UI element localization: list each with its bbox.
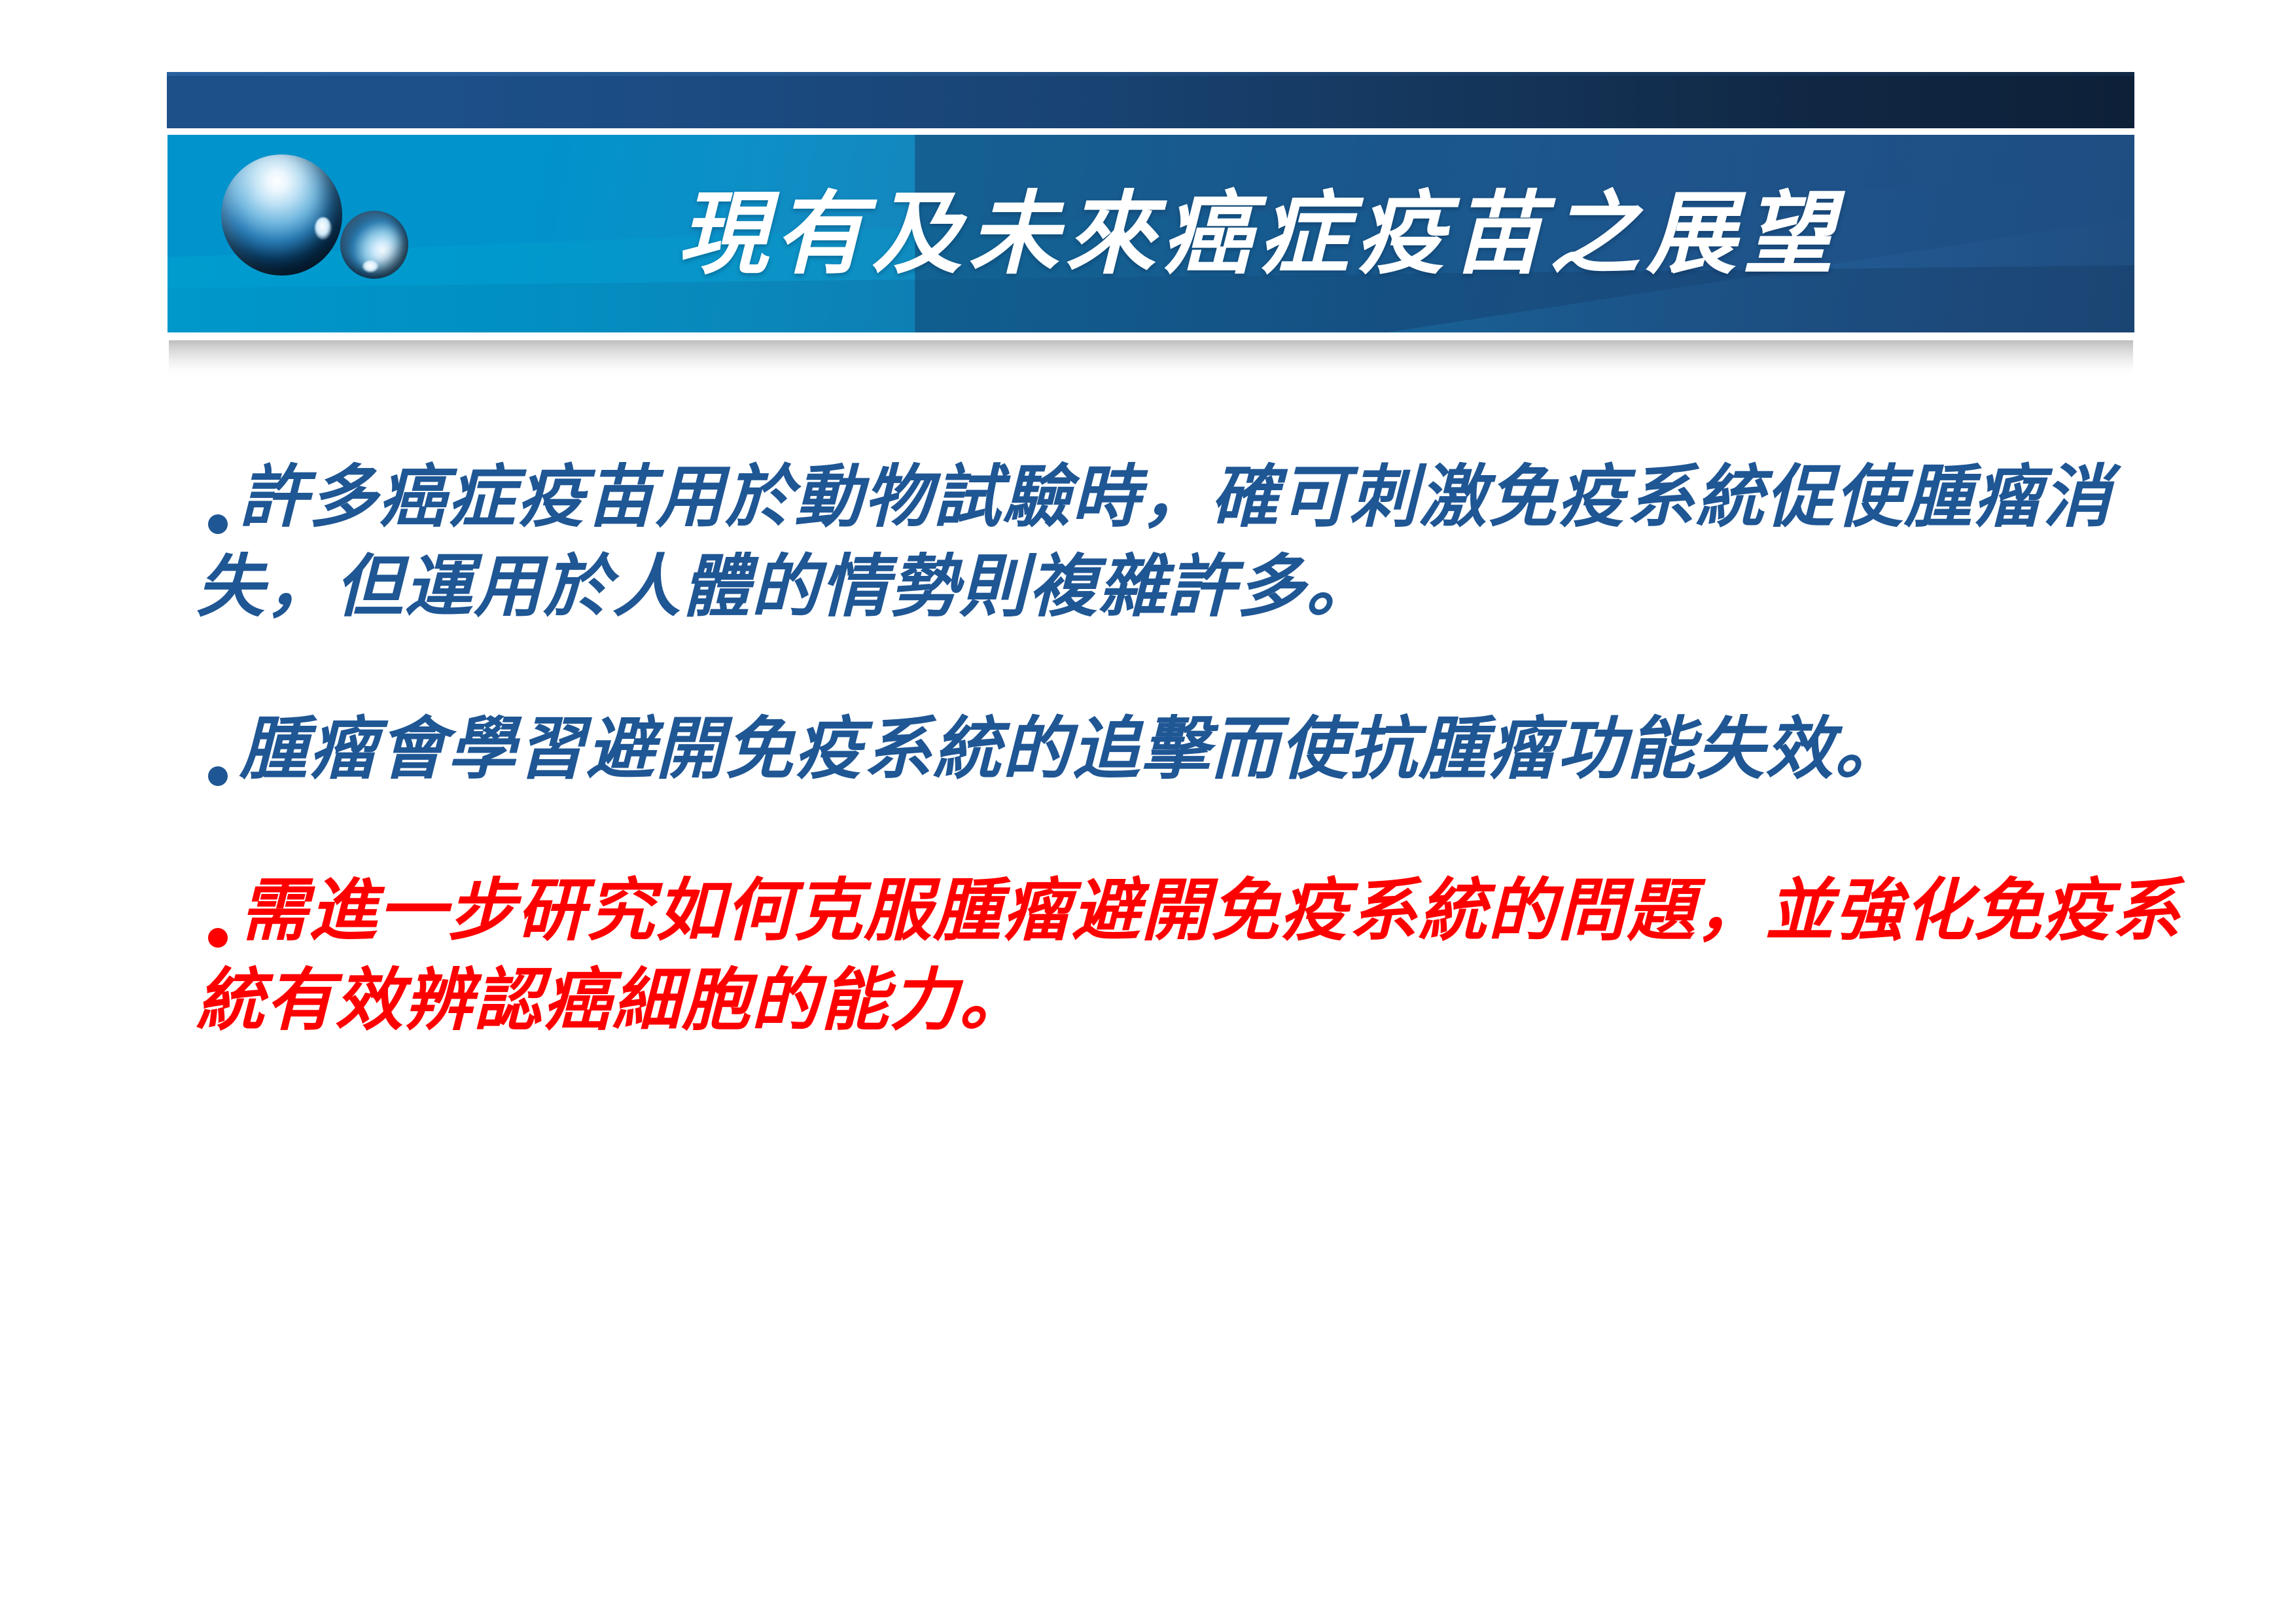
- bullet-item-1: 許多癌症疫苗用於動物試驗時，確可刺激免疫系統促使腫瘤消失，但運用於人體的情勢則複…: [0, 452, 2296, 632]
- page-title: 現有及未來癌症疫苗之展望: [501, 135, 2017, 332]
- bullet-marker-icon: [208, 514, 228, 534]
- bullet-text-1: 許多癌症疫苗用於動物試驗時，確可刺激免疫系統促使腫瘤消失，但運用於人體的情勢則複…: [196, 452, 2198, 632]
- bullet-item-3: 需進一步研究如何克服腫瘤避開免疫系統的問題，並強化免疫系統有效辨認癌細胞的能力。: [0, 865, 2296, 1045]
- bullet-marker-icon: [208, 766, 228, 786]
- bullet-marker-icon: [208, 928, 228, 948]
- metallic-sphere-small-icon: [340, 211, 408, 279]
- slide-body: 許多癌症疫苗用於動物試驗時，確可刺激免疫系統促使腫瘤消失，但運用於人體的情勢則複…: [0, 452, 2296, 1044]
- bullet-text-2: 腫瘤會學習避開免疫系統的追擊而使抗腫瘤功能失效。: [196, 704, 2198, 793]
- metallic-sphere-large-icon: [221, 154, 342, 276]
- title-banner: 現有及未來癌症疫苗之展望: [168, 135, 2134, 332]
- bullet-item-2: 腫瘤會學習避開免疫系統的追擊而使抗腫瘤功能失效。: [0, 704, 2296, 793]
- slide-root: 現有及未來癌症疫苗之展望 許多癌症疫苗用於動物試驗時，確可刺激免疫系統促使腫瘤消…: [0, 0, 2296, 1623]
- header-top-bar: [167, 72, 2134, 128]
- bubble-logo: [212, 148, 454, 318]
- bullet-text-3: 需進一步研究如何克服腫瘤避開免疫系統的問題，並強化免疫系統有效辨認癌細胞的能力。: [196, 865, 2198, 1045]
- banner-reflection: [169, 340, 2133, 377]
